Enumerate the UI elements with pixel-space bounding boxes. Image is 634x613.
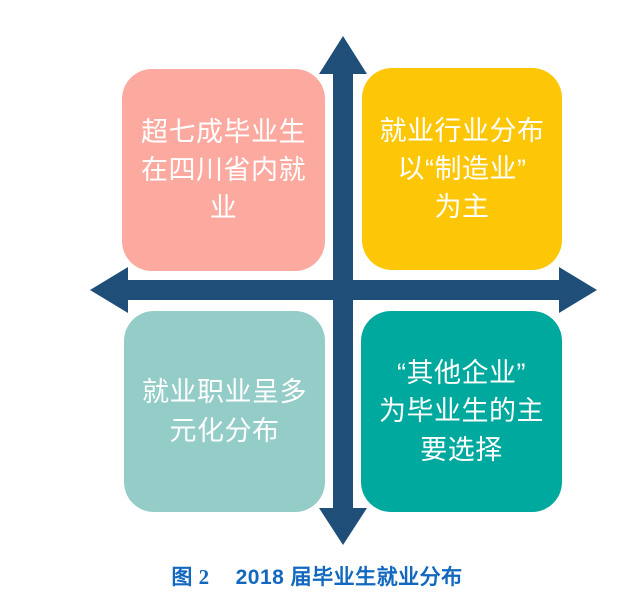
quadrant-box-bottom-left[interactable]: 就业职业呈多 元化分布 — [124, 311, 325, 512]
quadrant-label-bottom-left: 就业职业呈多 元化分布 — [142, 373, 307, 450]
figure-caption: 图 22018 届毕业生就业分布 — [0, 561, 634, 591]
quadrant-label-top-right: 就业行业分布 以“制造业” 为主 — [380, 112, 545, 227]
quadrant-label-top-left: 超七成毕业生 在四川省内就 业 — [141, 113, 306, 228]
quadrant-box-top-right[interactable]: 就业行业分布 以“制造业” 为主 — [362, 68, 562, 270]
quadrant-box-bottom-right[interactable]: “其他企业” 为毕业生的主 要选择 — [361, 311, 562, 512]
quadrant-box-top-left[interactable]: 超七成毕业生 在四川省内就 业 — [122, 69, 325, 271]
figure-caption-number: 图 2 — [171, 565, 209, 589]
figure-caption-title: 2018 届毕业生就业分布 — [236, 566, 463, 589]
quadrant-figure: 超七成毕业生 在四川省内就 业 就业行业分布 以“制造业” 为主 就业职业呈多 … — [0, 0, 634, 613]
horizontal-axis-arrow — [90, 267, 597, 313]
vertical-axis-arrow — [319, 36, 367, 545]
quadrant-label-bottom-right: “其他企业” 为毕业生的主 要选择 — [379, 354, 544, 469]
